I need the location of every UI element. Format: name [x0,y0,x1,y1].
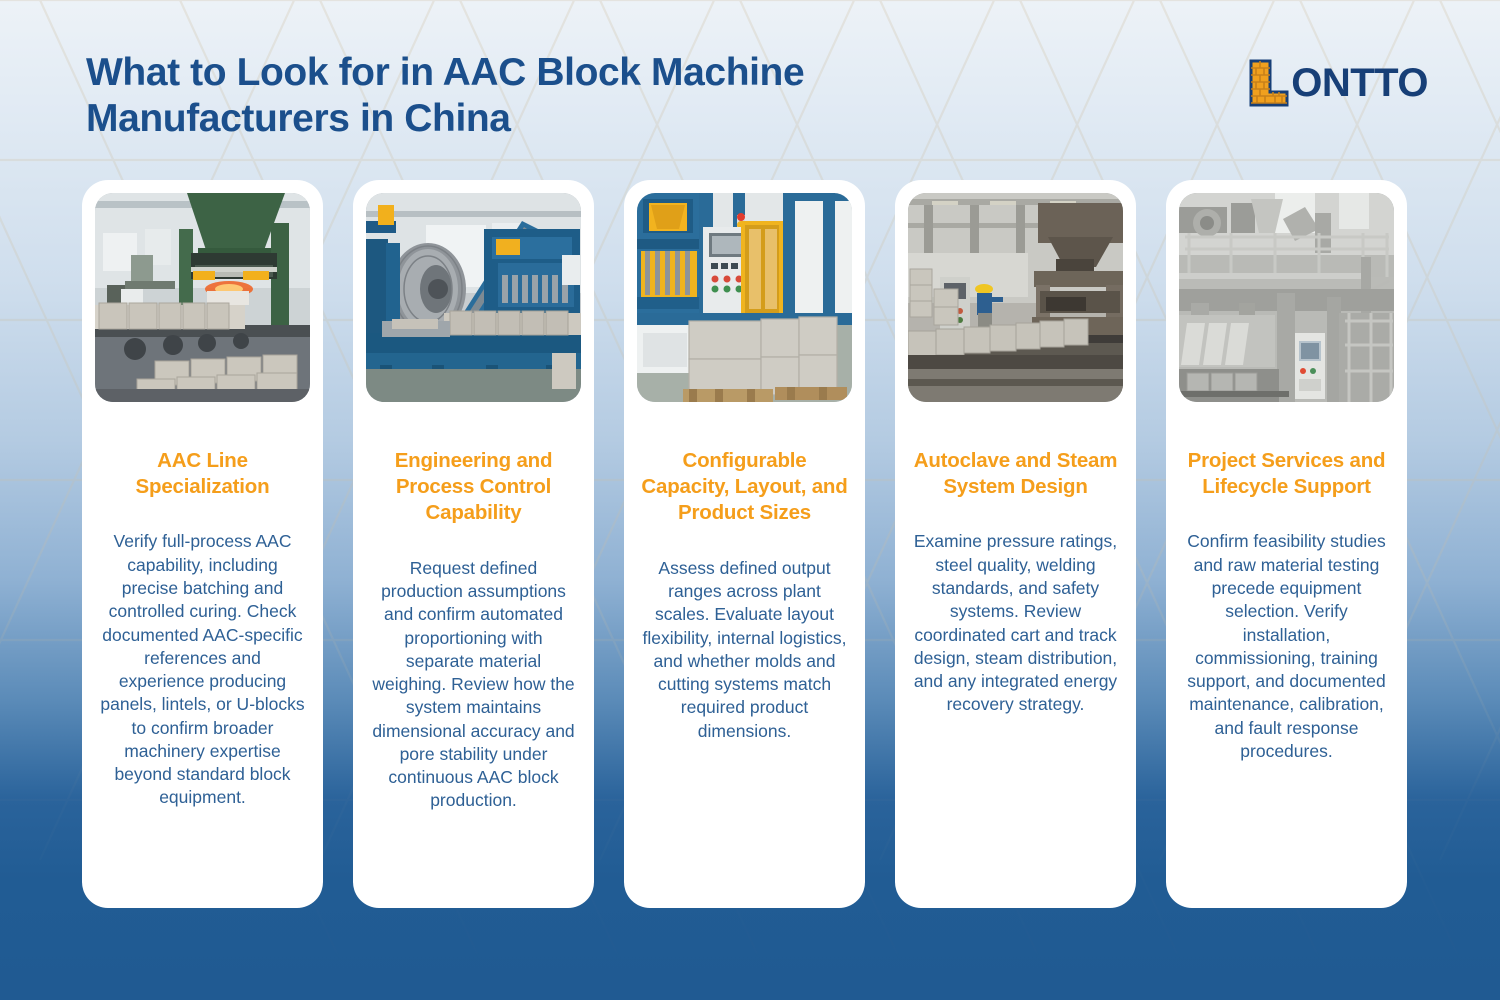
card-body: Verify full-process AAC capability, incl… [95,530,310,809]
feature-card[interactable]: Configurable Capacity, Layout, and Produ… [624,180,865,908]
aac-plant-platform-railings-photo [1179,193,1394,402]
feature-card[interactable]: Project Services and Lifecycle Support C… [1166,180,1407,908]
card-body: Confirm feasibility studies and raw mate… [1179,530,1394,763]
brick-letter-l-icon [1248,59,1290,107]
card-title: Engineering and Process Control Capabili… [366,448,581,527]
card-title: AAC Line Specialization [95,448,310,500]
feature-card[interactable]: Autoclave and Steam System Design Examin… [895,180,1136,908]
card-body: Assess defined output ranges across plan… [637,557,852,743]
card-title: Autoclave and Steam System Design [908,448,1123,500]
blue-mixer-drum-production-line-photo [366,193,581,402]
steel-press-worker-hardhat-photo [908,193,1123,402]
card-title: Project Services and Lifecycle Support [1179,448,1394,500]
infographic-page: What to Look for in AAC Block Machine Ma… [0,0,1500,1000]
feature-card[interactable]: AAC Line Specialization Verify full-proc… [82,180,323,908]
lontto-logo[interactable]: ONTTO [1248,58,1428,108]
card-title: Configurable Capacity, Layout, and Produ… [637,448,852,527]
header: What to Look for in AAC Block Machine Ma… [0,0,1500,180]
feature-card-row: AAC Line Specialization Verify full-proc… [82,180,1418,908]
feature-card[interactable]: Engineering and Process Control Capabili… [353,180,594,908]
page-title: What to Look for in AAC Block Machine Ma… [86,50,986,141]
green-block-machine-conveyor-photo [95,193,310,402]
card-body: Examine pressure ratings, steel quality,… [908,530,1123,716]
control-panel-blocks-on-pallets-photo [637,193,852,402]
card-body: Request defined production assumptions a… [366,557,581,813]
logo-wordmark: ONTTO [1291,63,1428,103]
